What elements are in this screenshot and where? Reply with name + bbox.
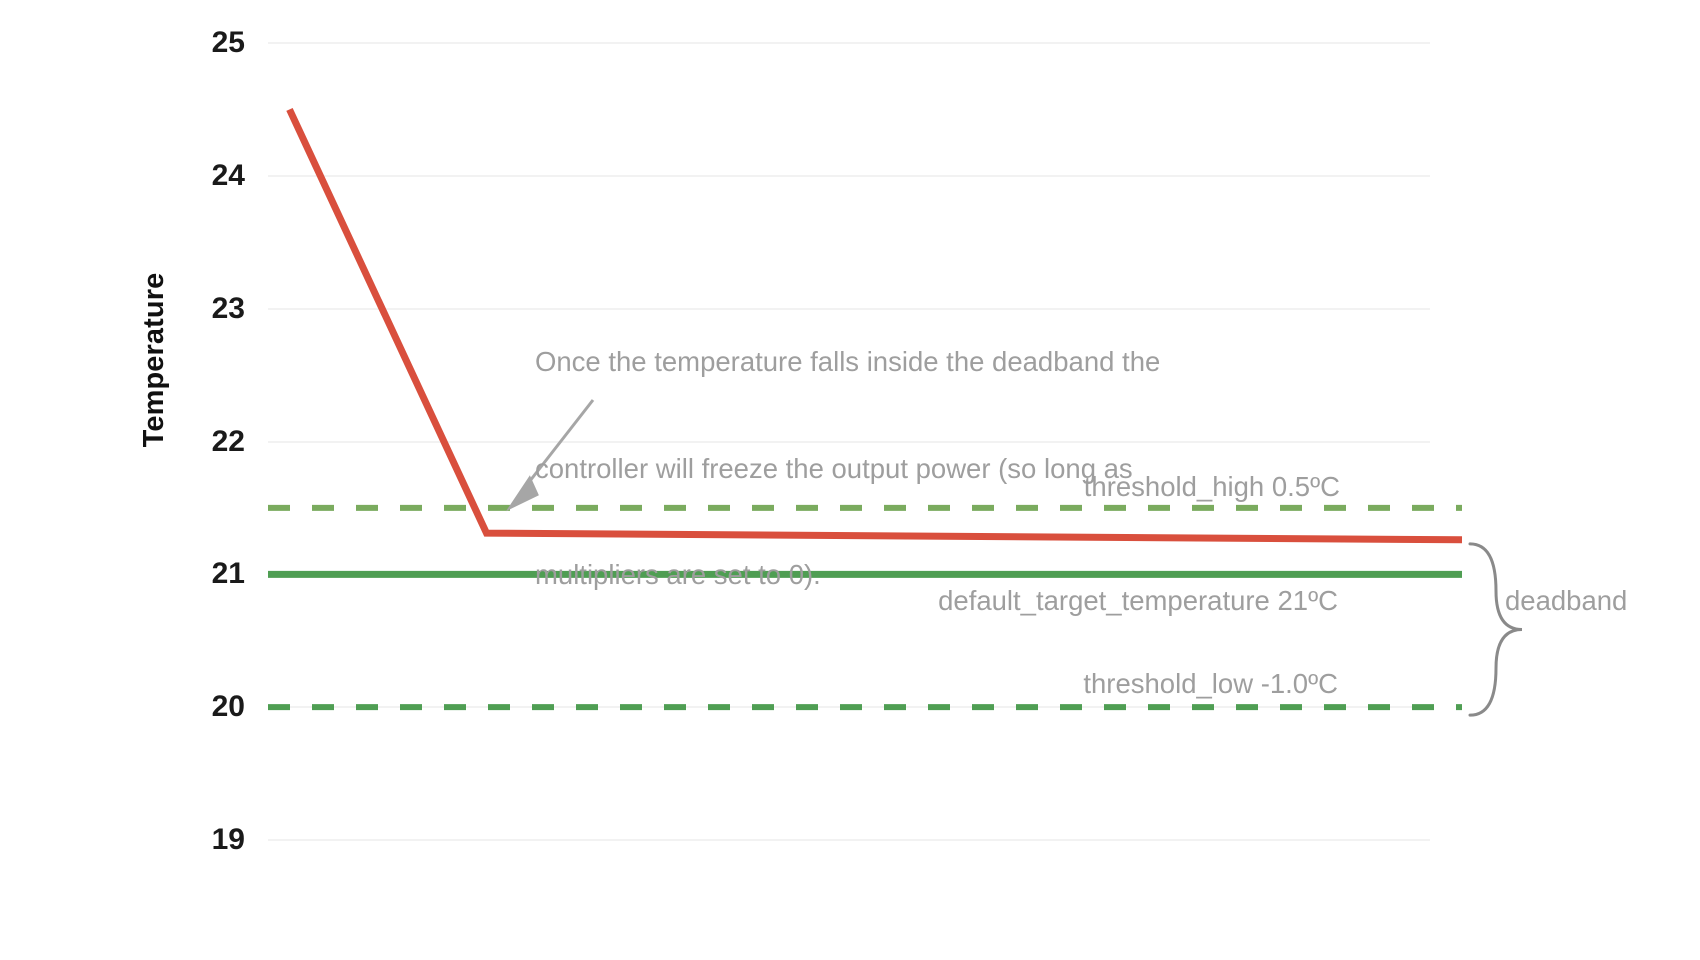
callout-line-1: Once the temperature falls inside the de… [535, 344, 1215, 380]
deadband-brace [1470, 544, 1522, 715]
deadband-label: deadband [1505, 585, 1627, 617]
threshold-high-label: threshold_high 0.5ºC [1084, 471, 1340, 503]
default-target-temperature-label: default_target_temperature 21ºC [938, 585, 1338, 617]
threshold-low-label: threshold_low -1.0ºC [1083, 668, 1338, 700]
chart-canvas: Temperature 25242322212019 Once the temp… [0, 0, 1700, 960]
